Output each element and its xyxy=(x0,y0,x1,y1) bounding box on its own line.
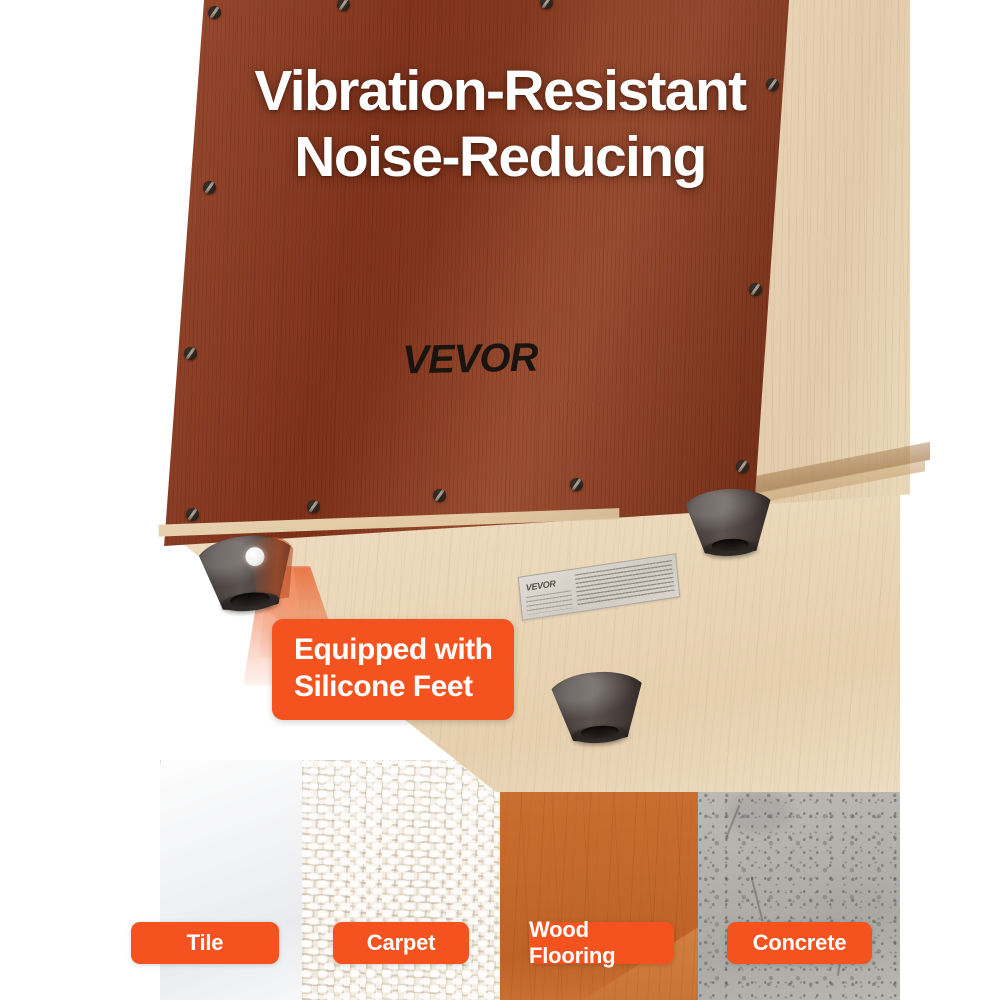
screw-icon xyxy=(749,283,762,296)
silicone-foot-left xyxy=(193,531,302,613)
floor-label-wood-flooring: Wood Flooring xyxy=(529,922,674,964)
floor-label-concrete: Concrete xyxy=(727,922,872,964)
screw-icon xyxy=(184,347,197,360)
product-feature-image: VEVOR VEVOR Vibration-Resistant Noise-Re… xyxy=(0,0,1000,1000)
silicone-foot-upper-right xyxy=(680,487,777,556)
silicone-foot-lower-middle xyxy=(546,669,650,744)
callout-line-1: Equipped with xyxy=(294,633,492,666)
sticker-fine-print xyxy=(526,590,573,615)
callout-line-2: Silicone Feet xyxy=(294,669,492,706)
sticker-brand-text: VEVOR xyxy=(525,578,556,592)
floor-label-tile: Tile xyxy=(131,922,279,964)
screw-icon xyxy=(570,478,583,491)
headline-line-1: Vibration-Resistant xyxy=(254,59,745,123)
screw-icon xyxy=(208,6,221,19)
floor-strip-tile xyxy=(160,760,302,1000)
screw-icon xyxy=(307,500,320,513)
screw-icon xyxy=(736,460,749,473)
concrete-crack xyxy=(726,805,741,837)
callout-badge-silicone-feet: Equipped with Silicone Feet xyxy=(272,619,514,720)
floor-strip-carpet xyxy=(302,760,500,1000)
screw-icon xyxy=(186,508,199,521)
headline: Vibration-Resistant Noise-Reducing xyxy=(0,58,1000,190)
concrete-crack xyxy=(750,876,763,921)
headline-line-2: Noise-Reducing xyxy=(0,124,1000,190)
floor-surface-strips xyxy=(0,760,1000,1000)
brand-logo-vevor: VEVOR xyxy=(390,335,551,383)
floor-strip-concrete xyxy=(698,760,900,1000)
screw-icon xyxy=(433,489,446,502)
floor-label-carpet: Carpet xyxy=(333,922,469,964)
